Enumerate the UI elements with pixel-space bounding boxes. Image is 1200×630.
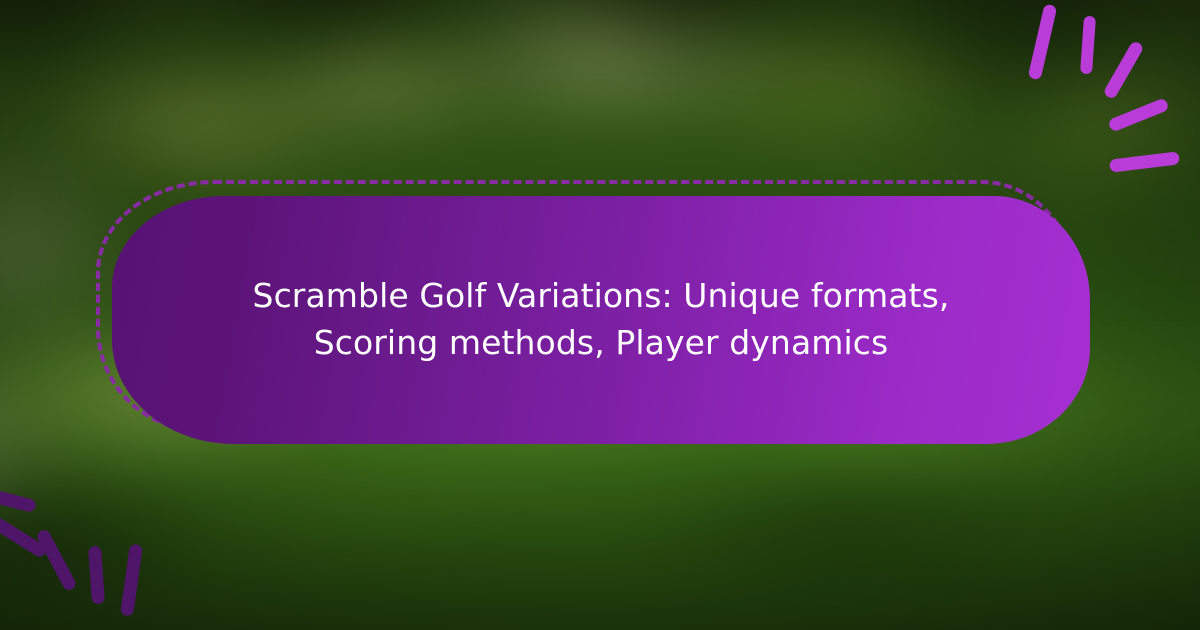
page-title-line-1: Scramble Golf Variations: Unique formats… bbox=[253, 276, 950, 315]
title-card: Scramble Golf Variations: Unique formats… bbox=[112, 196, 1090, 444]
card-layer: Scramble Golf Variations: Unique formats… bbox=[0, 0, 1200, 630]
page-title-line-2: Scoring methods, Player dynamics bbox=[314, 323, 889, 362]
title-card-canvas: Scramble Golf Variations: Unique formats… bbox=[0, 0, 1200, 630]
page-title: Scramble Golf Variations: Unique formats… bbox=[198, 273, 1004, 367]
